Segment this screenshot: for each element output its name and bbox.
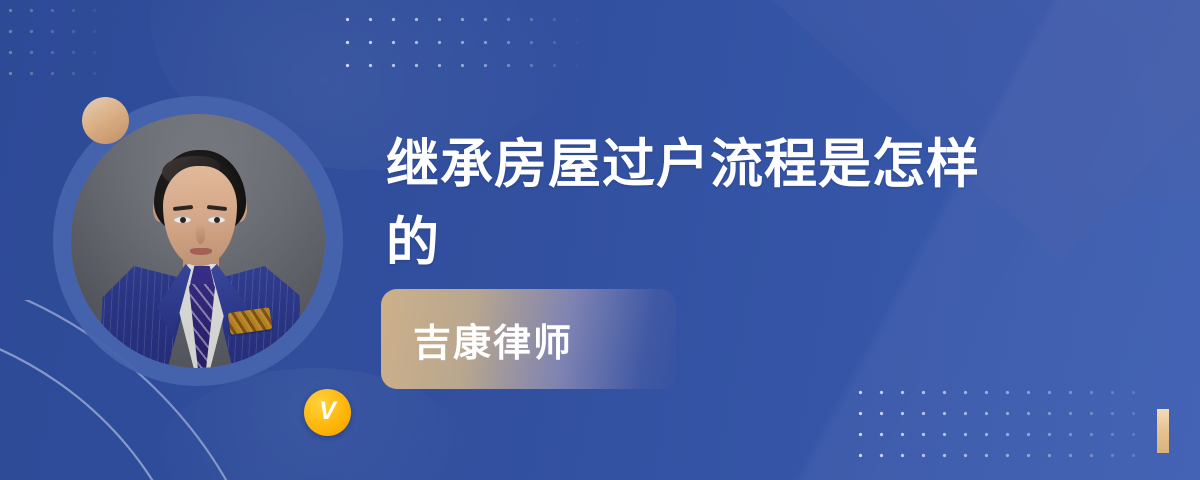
tan-circle-decoration [82, 97, 129, 144]
verified-badge-glyph: V [319, 399, 336, 424]
page-title: 继承房屋过户流程是怎样的 [386, 126, 1006, 282]
dot-grid-bottom-right-gold-icon [0, 0, 130, 92]
author-badge[interactable]: 吉康律师 [381, 289, 676, 389]
author-name: 吉康律师 [413, 312, 573, 367]
avatar-photo [71, 114, 325, 368]
portrait-vignette [71, 114, 325, 368]
gold-bar-decoration [1157, 409, 1169, 453]
dot-grid-top-icon [336, 8, 586, 80]
article-cover-banner: V 继承房屋过户流程是怎样的 吉康律师 [0, 0, 1200, 480]
verified-badge-icon: V [304, 389, 351, 436]
dot-grid-bottom-right-icon [850, 382, 1150, 474]
